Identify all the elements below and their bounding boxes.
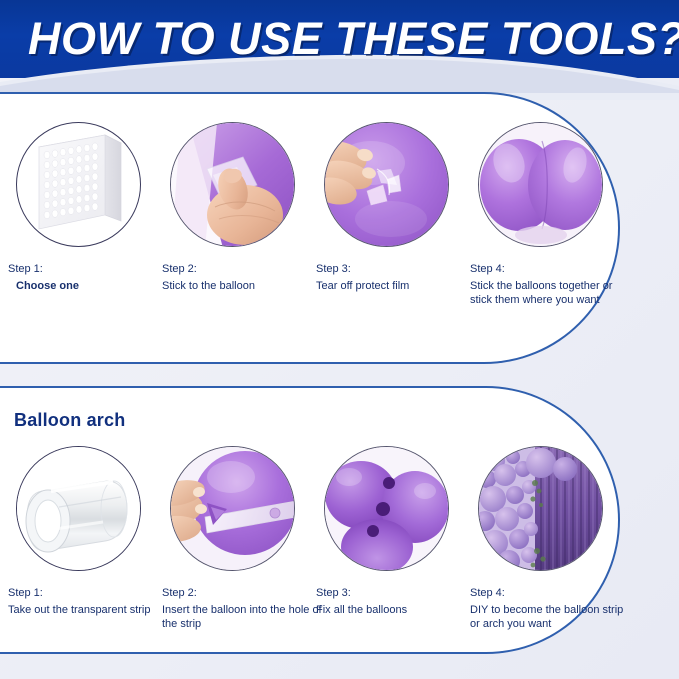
step-label: Step 2: (162, 586, 322, 600)
step-text: Fix all the balloons (316, 603, 476, 617)
step-text: Take out the transparent strip (8, 603, 168, 617)
step-text: Stick to the balloon (162, 279, 322, 293)
step-text: DIY to become the balloon strip or arch … (470, 603, 630, 631)
instruction-panel-glue-dots: Step 1: Choose one (0, 92, 620, 364)
step-caption: Step 1: Take out the transparent strip (8, 586, 168, 617)
step-label: Step 4: (470, 586, 630, 600)
panel-2-steps: Step 1: Take out the transparent strip (0, 388, 620, 652)
step-text: Tear off protect film (316, 279, 476, 293)
step-label: Step 1: (8, 262, 168, 276)
balloon-arch-photo-icon (479, 447, 603, 571)
panel-2-content: Balloon arch (0, 388, 620, 652)
step-label: Step 2: (162, 262, 322, 276)
insert-balloon-icon (171, 447, 295, 571)
step-text: Insert the balloon into the hole of the … (162, 603, 322, 631)
step-image-balloons-together (478, 122, 603, 247)
step-image-tear-off-film (324, 122, 449, 247)
page-header: HOW TO USE THESE TOOLS? (0, 0, 679, 100)
glue-dot-sheet-icon (17, 123, 141, 247)
step-caption: Step 2: Stick to the balloon (162, 262, 322, 293)
instruction-panel-balloon-arch: Balloon arch (0, 386, 620, 654)
hand-tearing-film-icon (325, 123, 449, 247)
step-label: Step 1: (8, 586, 168, 600)
step-image-glue-dot-sheet (16, 122, 141, 247)
step-label: Step 3: (316, 262, 476, 276)
step-caption: Step 4: DIY to become the balloon strip … (470, 586, 630, 631)
step-caption: Step 4: Stick the balloons together or s… (470, 262, 630, 307)
two-balloons-icon (479, 123, 603, 247)
step-image-finished-arch (478, 446, 603, 571)
step-image-fix-balloons (324, 446, 449, 571)
step-label: Step 3: (316, 586, 476, 600)
panel-1-steps: Step 1: Choose one (0, 94, 620, 362)
step-image-transparent-strip (16, 446, 141, 571)
panel-1-content: Step 1: Choose one (0, 94, 620, 362)
step-caption: Step 3: Tear off protect film (316, 262, 476, 293)
step-image-insert-balloon (170, 446, 295, 571)
step-text: Stick the balloons together or stick the… (470, 279, 630, 307)
tape-roll-icon (17, 447, 141, 571)
step-label: Step 4: (470, 262, 630, 276)
three-balloons-icon (325, 447, 449, 571)
hand-sticking-film-icon (171, 123, 295, 247)
step-caption: Step 2: Insert the balloon into the hole… (162, 586, 322, 631)
step-caption: Step 1: Choose one (8, 262, 168, 293)
step-caption: Step 3: Fix all the balloons (316, 586, 476, 617)
step-image-stick-to-balloon (170, 122, 295, 247)
page-title: HOW TO USE THESE TOOLS? (28, 10, 668, 68)
step-text: Choose one (8, 279, 168, 293)
